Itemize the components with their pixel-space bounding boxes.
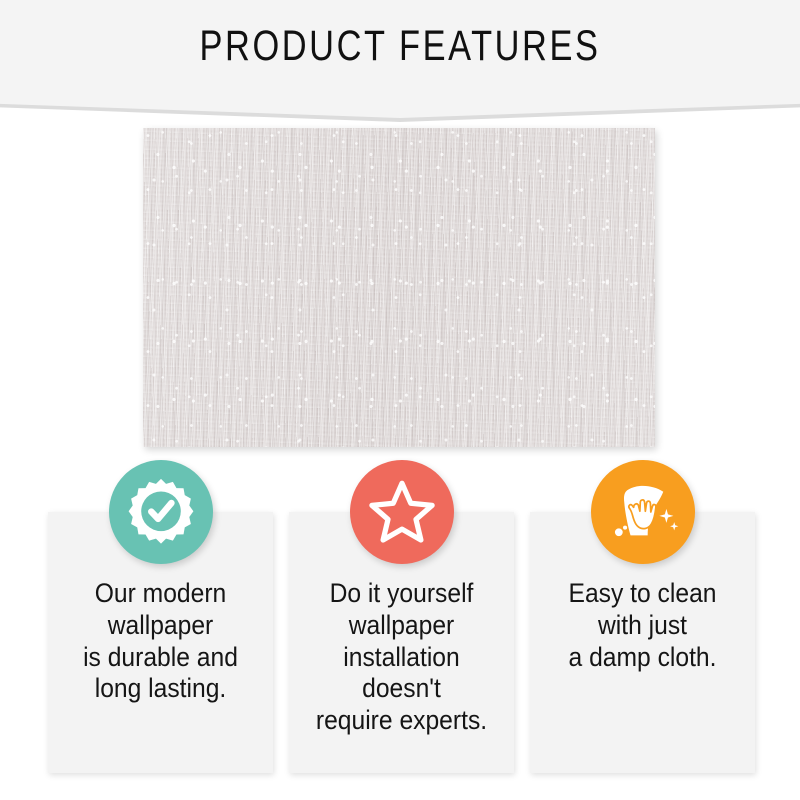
feature-text: Our modern wallpaper is durable and long… <box>63 578 257 705</box>
wallpaper-sheen <box>143 128 655 447</box>
verified-badge-icon <box>109 460 213 564</box>
cleaning-hand-icon <box>591 460 695 564</box>
feature-card: Do it yourself wallpaper installation do… <box>289 512 514 773</box>
feature-text: Do it yourself wallpaper installation do… <box>304 578 498 737</box>
feature-card: Our modern wallpaper is durable and long… <box>48 512 273 773</box>
feature-text: Easy to clean with just a damp cloth. <box>545 578 739 673</box>
star-icon <box>350 460 454 564</box>
feature-cards-row: Our modern wallpaper is durable and long… <box>0 512 800 774</box>
product-features-infographic: PRODUCT FEATURES Our modern wallpaper is… <box>0 0 800 800</box>
feature-card: Easy to clean with just a damp cloth. <box>530 512 755 773</box>
page-title: PRODUCT FEATURES <box>80 22 720 71</box>
product-image <box>143 128 655 447</box>
